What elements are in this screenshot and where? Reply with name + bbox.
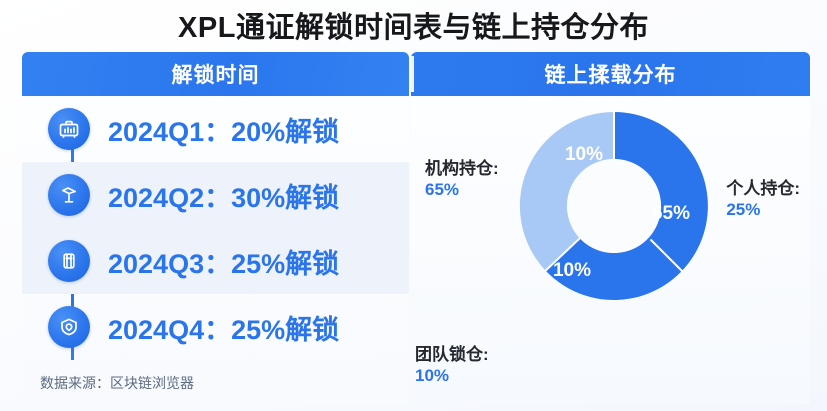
header-divider xyxy=(411,56,414,92)
holdings-distribution-header-text: 链上揉载分布 xyxy=(545,59,677,89)
timeline-row-label: 2024Q2：30%解锁 xyxy=(108,176,339,215)
timeline-row[interactable]: 2024Q2：30%解锁 xyxy=(22,162,409,228)
timeline-row-label: 2024Q1：20%解锁 xyxy=(108,110,339,149)
shield-home-icon xyxy=(48,306,90,348)
callout-team: 团队锁仓: 10% xyxy=(415,344,489,387)
timeline-row-label: 2024Q4：25%解锁 xyxy=(108,308,339,347)
donut-label-right-main: 65% xyxy=(652,203,690,224)
timeline-row[interactable]: 2024Q4：25%解锁 xyxy=(22,294,409,360)
timeline-row[interactable]: 2024Q1：20%解锁 xyxy=(22,96,409,162)
infographic-page: XPL通证解锁时间表与链上持仓分布 解锁时间 xyxy=(0,0,827,411)
callout-individual-percent: 25% xyxy=(726,199,800,220)
unlock-timeline: 2024Q1：20%解锁 2024Q2：30%解锁 xyxy=(22,96,409,404)
content-columns: 解锁时间 2024Q1：20%解锁 xyxy=(22,52,810,404)
callout-individual: 个人持仓: 25% xyxy=(726,178,800,221)
vault-icon xyxy=(48,240,90,282)
timeline-row-label: 2024Q3：25%解锁 xyxy=(108,242,339,281)
callout-institutional: 机构持仓: 65% xyxy=(425,158,499,201)
donut-chart-svg: 10% 65% 10% xyxy=(516,108,712,304)
holdings-distribution-panel: 链上揉载分布 xyxy=(411,52,810,404)
callout-institutional-percent: 65% xyxy=(425,179,499,200)
donut-label-top-light: 10% xyxy=(565,144,603,165)
donut-center-hole xyxy=(567,159,661,253)
unlock-schedule-panel: 解锁时间 2024Q1：20%解锁 xyxy=(22,52,409,404)
callout-team-name: 团队锁仓: xyxy=(415,344,489,365)
callout-team-percent: 10% xyxy=(415,365,489,386)
briefcase-icon xyxy=(48,108,90,150)
page-title: XPL通证解锁时间表与链上持仓分布 xyxy=(178,4,649,46)
page-title-bar: XPL通证解锁时间表与链上持仓分布 xyxy=(0,0,827,50)
callout-institutional-name: 机构持仓: xyxy=(425,158,499,179)
callout-individual-name: 个人持仓: xyxy=(726,178,800,199)
data-source-footer: 数据来源：区块链浏览器 xyxy=(22,362,409,404)
data-source-text: 数据来源：区块链浏览器 xyxy=(40,373,194,393)
donut-chart: 10% 65% 10% xyxy=(516,108,712,304)
donut-label-bottom-left: 10% xyxy=(553,260,591,281)
donut-chart-area: 10% 65% 10% 机构持仓: 65% 个人持仓: 25% 团队锁仓: 1 xyxy=(411,96,810,404)
timeline-row[interactable]: 2024Q3：25%解锁 xyxy=(22,228,409,294)
holdings-distribution-header: 链上揉载分布 xyxy=(411,52,810,96)
gavel-icon xyxy=(48,174,90,216)
unlock-schedule-header: 解锁时间 xyxy=(22,52,409,96)
unlock-schedule-header-text: 解锁时间 xyxy=(172,59,260,89)
